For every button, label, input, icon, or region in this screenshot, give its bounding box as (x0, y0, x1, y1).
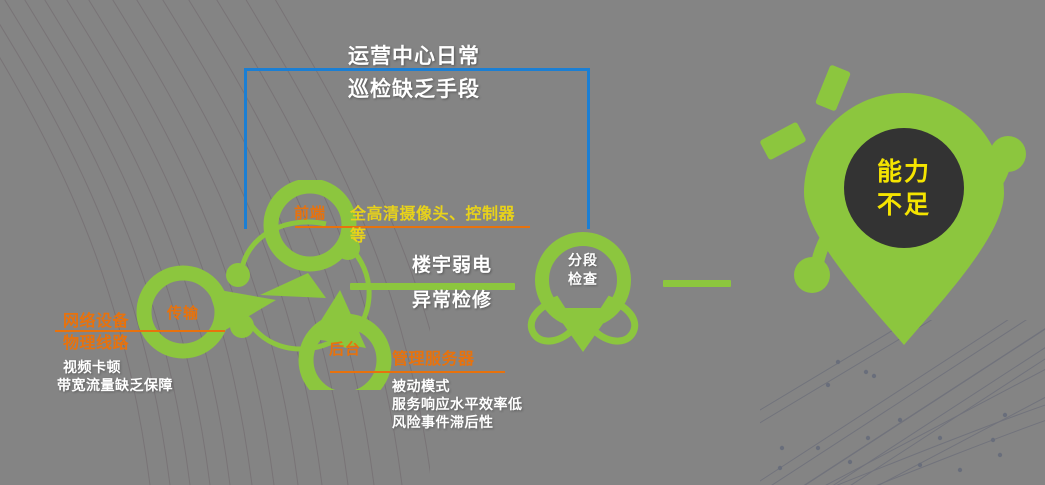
pin-capability-label-2: 不足 (834, 188, 974, 222)
frontend-callout-heading-cont: 等 (350, 225, 367, 247)
pin-capability-label-1: 能力 (834, 155, 974, 189)
title-line-2: 巡检缺乏手段 (244, 76, 584, 103)
frontend-callout-heading: 全高清摄像头、控制器 (350, 203, 515, 225)
pin-transmission-label: 传输 (153, 304, 213, 323)
title-line-1: 运营中心日常 (244, 43, 584, 70)
pin-segmented-check-label-1: 分段 (553, 252, 613, 271)
pin-segmented-check-label-2: 检查 (553, 271, 613, 290)
pin-frontend-label: 前端 (280, 204, 340, 223)
transmission-callout-body-2: 带宽流量缺乏保障 (57, 376, 173, 396)
middle-label-line-1: 楼宇弱电 (372, 253, 532, 277)
pin-backend-label: 后台 (315, 340, 375, 359)
backend-callout-body-3: 风险事件滞后性 (392, 413, 494, 433)
backend-callout-heading: 管理服务器 (392, 348, 475, 370)
diagram-canvas: 运营中心日常 巡检缺乏手段 (0, 0, 1045, 485)
backend-callout-underline (330, 371, 505, 373)
middle-label-line-2: 异常检修 (372, 288, 532, 312)
pin-frontend-shape (260, 186, 349, 298)
transmission-callout-heading-1: 网络设备 (63, 310, 129, 332)
transmission-callout-heading-2: 物理线路 (63, 332, 129, 354)
frontend-callout-underline (295, 226, 530, 228)
flow-connector-bar (663, 280, 731, 287)
